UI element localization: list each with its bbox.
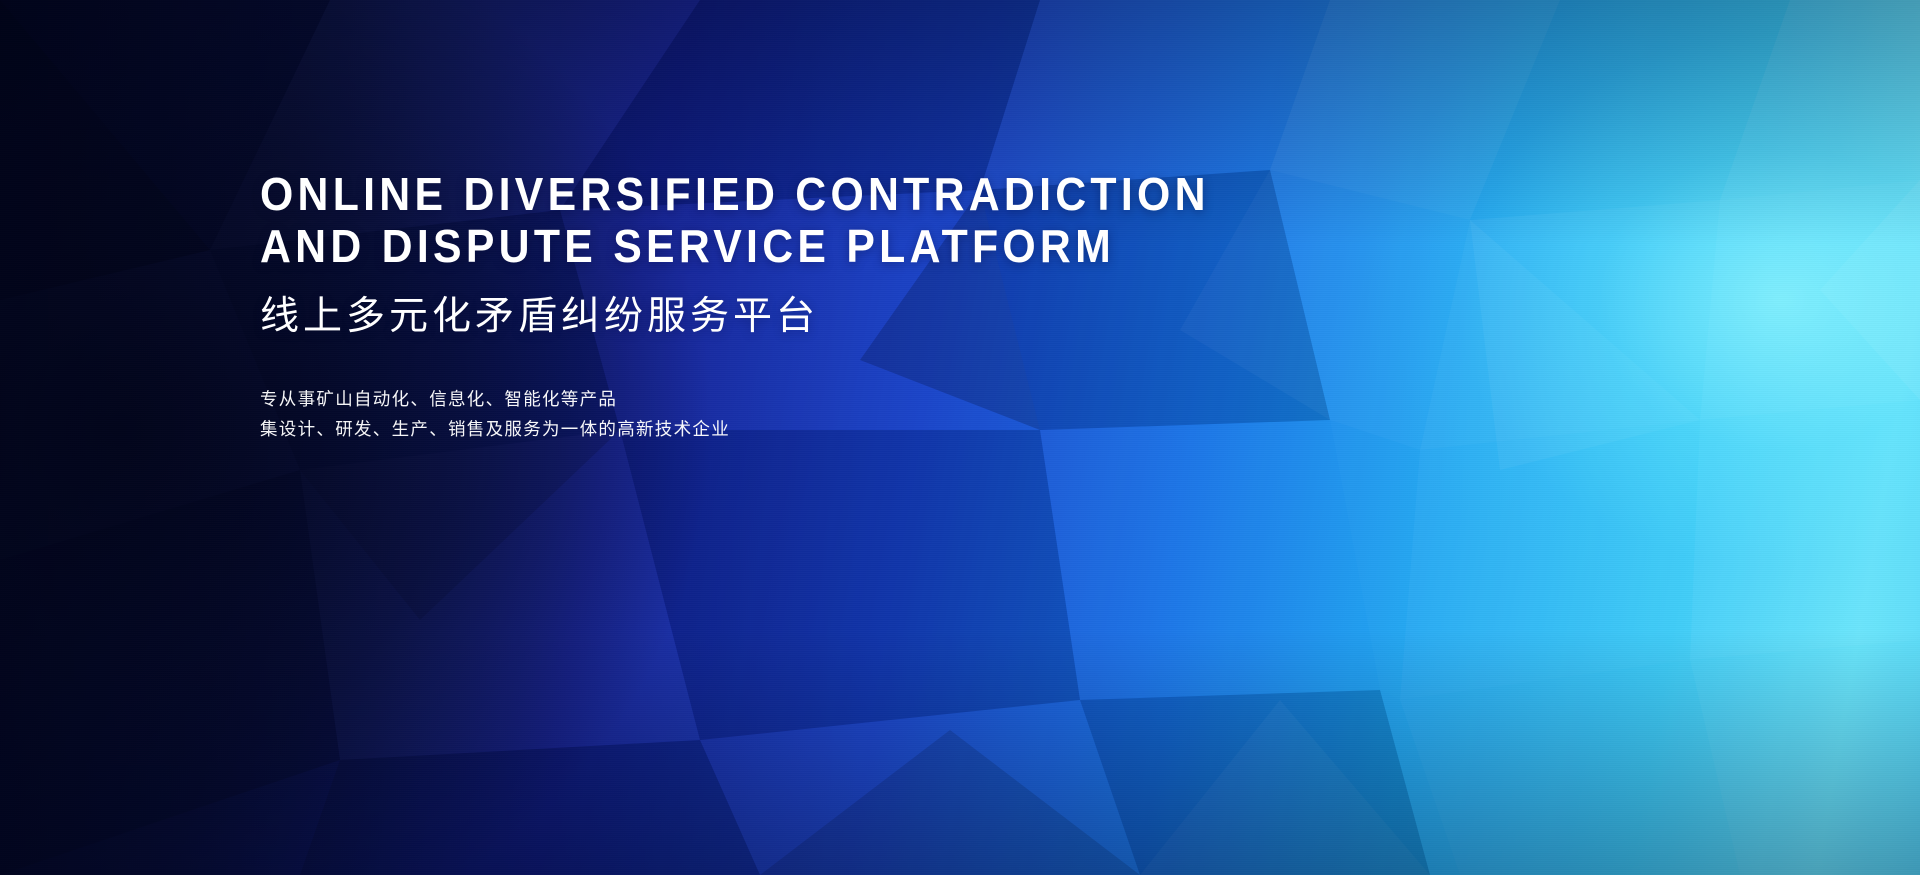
body-copy: 专从事矿山自动化、信息化、智能化等产品 集设计、研发、生产、销售及服务为一体的高…	[260, 384, 1410, 444]
body-line-2: 集设计、研发、生产、销售及服务为一体的高新技术企业	[260, 414, 1410, 444]
headline-line-2: AND DISPUTE SERVICE PLATFORM	[260, 220, 1330, 272]
body-line-1: 专从事矿山自动化、信息化、智能化等产品	[260, 384, 1410, 414]
hero-banner: ONLINE DIVERSIFIED CONTRADICTION AND DIS…	[0, 0, 1920, 875]
headline-line-1: ONLINE DIVERSIFIED CONTRADICTION	[260, 168, 1330, 220]
hero-text-block: ONLINE DIVERSIFIED CONTRADICTION AND DIS…	[260, 168, 1410, 444]
subtitle-chinese: 线上多元化矛盾纠纷服务平台	[260, 294, 1410, 340]
